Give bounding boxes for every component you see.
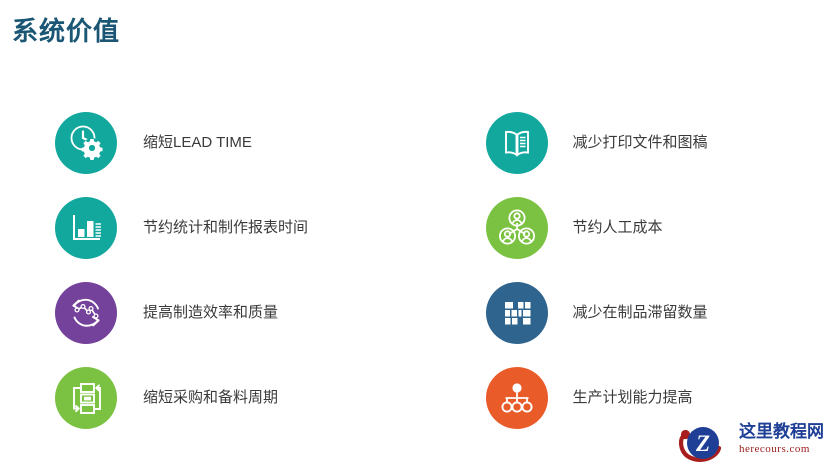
watermark-logo-icon: Z: [677, 422, 739, 466]
watermark: Z 这里教程网 herecours.com: [677, 420, 825, 468]
block-grid-icon: [486, 282, 548, 344]
value-item-label: 节约统计和制作报表时间: [143, 218, 308, 238]
value-item-label: 生产计划能力提高: [573, 388, 693, 408]
watermark-logo-letter: Z: [695, 431, 710, 456]
value-item[interactable]: 缩短LEAD TIME: [55, 100, 401, 185]
watermark-text: 这里教程网 herecours.com: [739, 422, 825, 456]
value-column-right: 减少打印文件和图稿: [401, 100, 831, 440]
cycle-line-chart-icon: [55, 282, 117, 344]
value-item-label: 缩短采购和备料周期: [143, 388, 278, 408]
value-item[interactable]: 提高制造效率和质量: [55, 270, 401, 355]
slide-canvas: 系统价值 缩短LEAD TIME: [0, 0, 831, 472]
value-item-label: 减少在制品滞留数量: [573, 303, 708, 323]
value-columns: 缩短LEAD TIME: [0, 100, 831, 440]
open-book-icon: [486, 112, 548, 174]
value-column-left: 缩短LEAD TIME: [0, 100, 401, 440]
page-title: 系统价值: [12, 14, 120, 48]
watermark-url: herecours.com: [739, 442, 825, 456]
value-item[interactable]: 减少打印文件和图稿: [486, 100, 831, 185]
value-item[interactable]: 节约统计和制作报表时间: [55, 185, 401, 270]
value-item-label: 提高制造效率和质量: [143, 303, 278, 323]
value-item-label: 减少打印文件和图稿: [573, 133, 708, 153]
value-item[interactable]: 减少在制品滞留数量: [486, 270, 831, 355]
value-item-label: 缩短LEAD TIME: [143, 133, 252, 153]
bar-chart-report-icon: [55, 197, 117, 259]
clock-gear-icon: [55, 112, 117, 174]
value-item-label: 节约人工成本: [573, 218, 663, 238]
value-item[interactable]: 节约人工成本: [486, 185, 831, 270]
org-chart-icon: [486, 367, 548, 429]
team-people-icon: [486, 197, 548, 259]
value-item[interactable]: 缩短采购和备料周期: [55, 355, 401, 440]
watermark-site-name: 这里教程网: [739, 422, 825, 442]
process-flow-icon: [55, 367, 117, 429]
